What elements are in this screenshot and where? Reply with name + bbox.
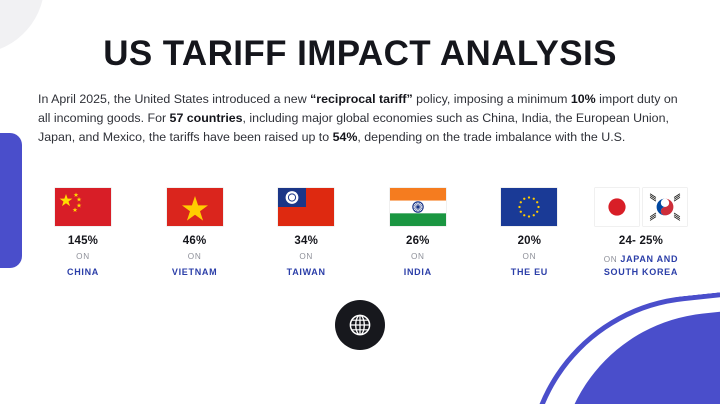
eu-flag: [501, 188, 557, 226]
tariff-percent: 34%: [251, 235, 361, 247]
tariff-country-name: INDIA: [363, 266, 473, 278]
paragraph-segment-5: , depending on the trade imbalance with …: [357, 130, 625, 144]
tariff-on-label: ON: [251, 252, 361, 261]
tariff-country-name: ON JAPAN AND SOUTH KOREA: [586, 253, 696, 278]
paragraph-bold-reciprocal-tariff: “reciprocal tariff”: [310, 92, 413, 106]
tariff-item-japan-south-korea: 24- 25% ON JAPAN AND SOUTH KOREA: [586, 188, 696, 278]
tariff-country-name: CHINA: [28, 266, 138, 278]
paragraph-segment-1: In April 2025, the United States introdu…: [38, 92, 310, 106]
tariff-percent: 26%: [363, 235, 473, 247]
tariff-country-name: THE EU: [474, 266, 584, 278]
paragraph-segment-2: policy, imposing a minimum: [413, 92, 571, 106]
tariff-item-eu: 20% ON THE EU: [474, 188, 584, 278]
tariff-item-taiwan: 34% ON TAIWAN: [251, 188, 361, 278]
tariff-on-label: ON: [604, 255, 621, 264]
tariff-item-vietnam: 46% ON VIETNAM: [140, 188, 250, 278]
page-title: US TARIFF IMPACT ANALYSIS: [0, 34, 720, 74]
slide-canvas: US TARIFF IMPACT ANALYSIS In April 2025,…: [0, 0, 720, 404]
decor-bottom-right-thin-line: [520, 284, 720, 404]
paragraph-bold-minimum-rate: 10%: [571, 92, 596, 106]
japan-flag: [595, 188, 639, 226]
tariff-on-label: ON: [474, 252, 584, 261]
decor-bottom-right-shape: [520, 284, 720, 404]
tariff-percent: 46%: [140, 235, 250, 247]
south-korea-flag: [643, 188, 687, 226]
tariff-item-india: 26% ON INDIA: [363, 188, 473, 278]
india-flag: [390, 188, 446, 226]
tariff-percent: 24- 25%: [586, 235, 696, 247]
paragraph-bold-country-count: 57 countries: [170, 111, 243, 125]
tariff-percent: 145%: [28, 235, 138, 247]
tariff-on-label: ON: [140, 252, 250, 261]
japan-south-korea-flags: [595, 188, 687, 226]
tariff-on-label: ON: [28, 252, 138, 261]
china-flag: [55, 188, 111, 226]
vietnam-flag: [167, 188, 223, 226]
globe-badge[interactable]: [335, 300, 385, 350]
tariff-list: 145% ON CHINA 46% ON VIETNAM: [28, 188, 696, 278]
tariff-country-name: VIETNAM: [140, 266, 250, 278]
tariff-on-label: ON: [363, 252, 473, 261]
intro-paragraph: In April 2025, the United States introdu…: [38, 90, 684, 147]
paragraph-bold-max-rate: 54%: [333, 130, 358, 144]
tariff-percent: 20%: [474, 235, 584, 247]
tariff-item-china: 145% ON CHINA: [28, 188, 138, 278]
taiwan-flag: [278, 188, 334, 226]
decor-left-purple-bar: [0, 133, 22, 268]
globe-icon: [347, 312, 373, 338]
tariff-country-name: TAIWAN: [251, 266, 361, 278]
